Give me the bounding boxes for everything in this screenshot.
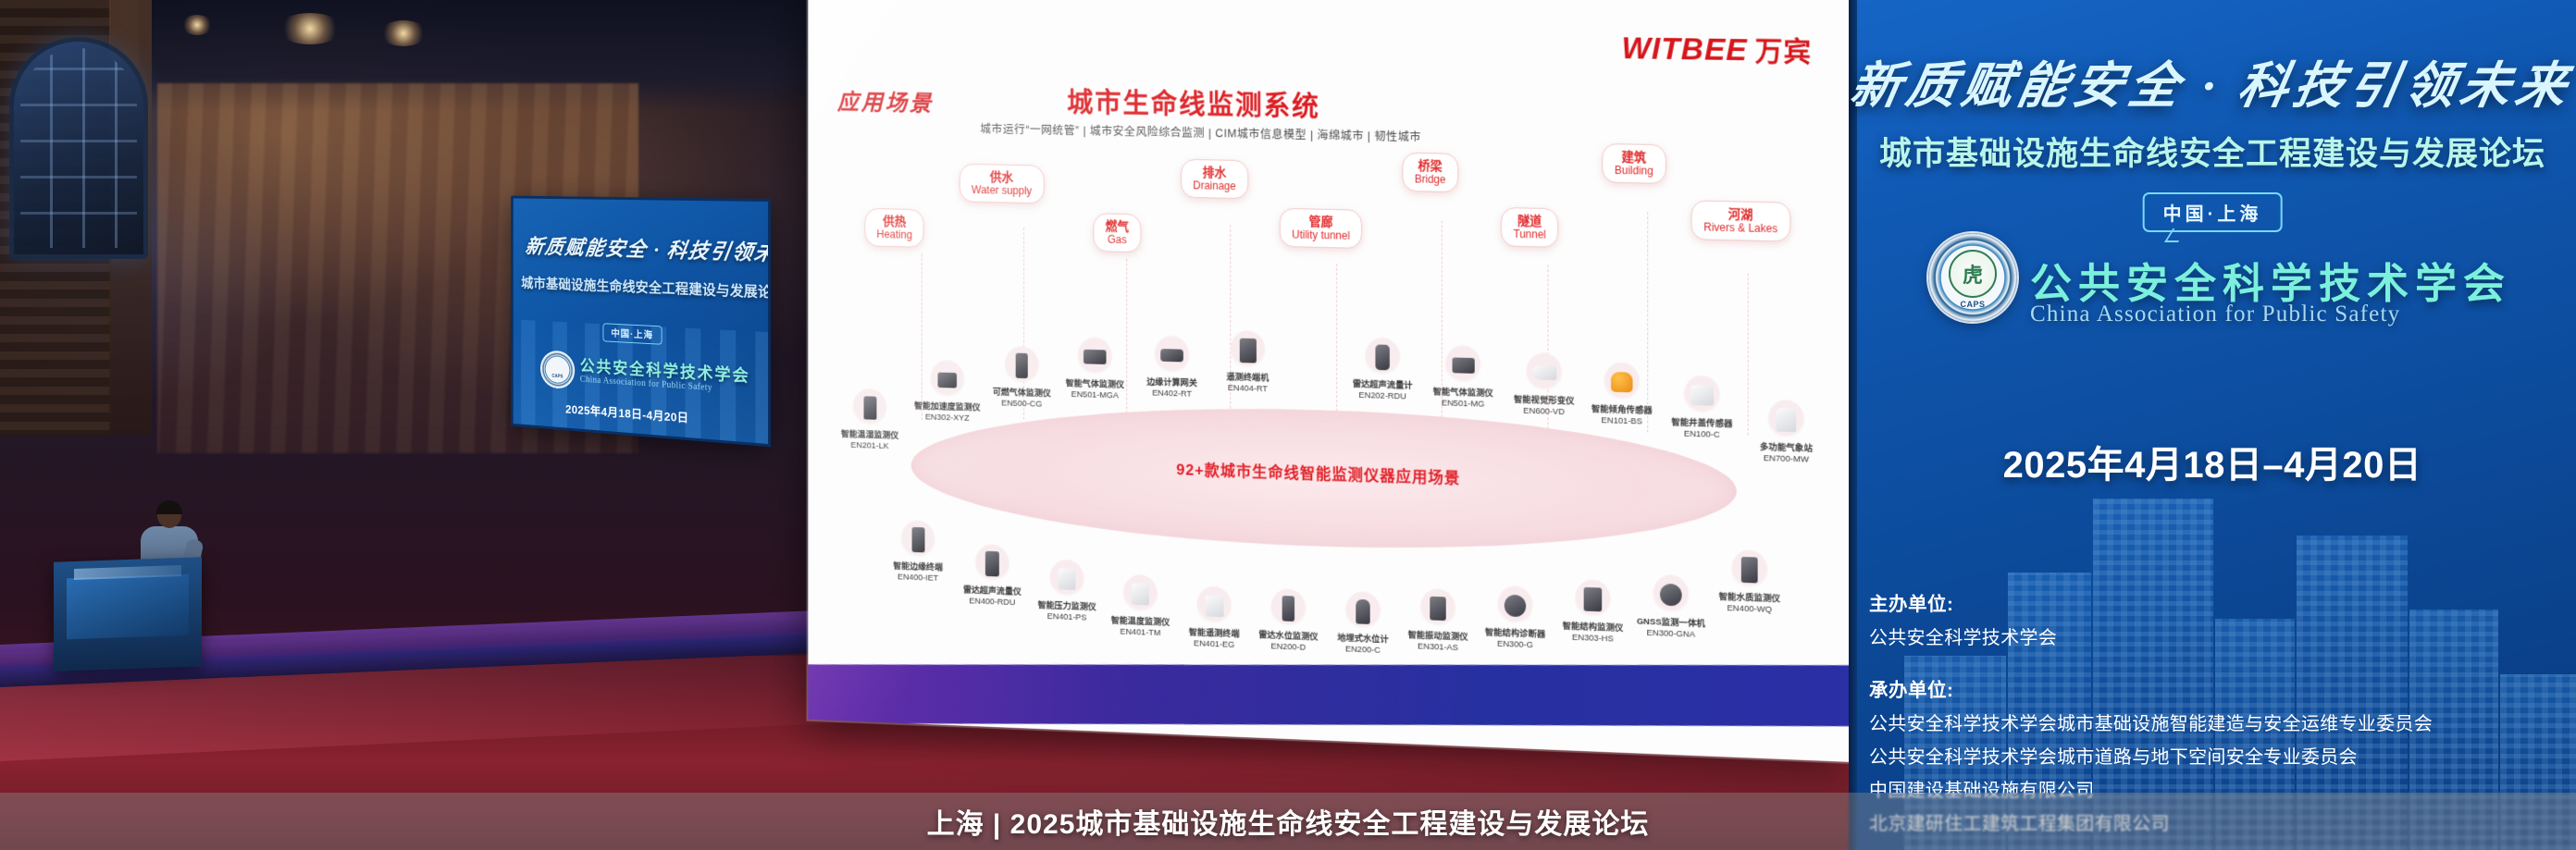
sensor-icon — [930, 360, 964, 400]
co-organizer: 公共安全科学技术学会城市基础设施智能建造与安全运维专业委员会 — [1869, 708, 2433, 735]
caps-seal-icon: CAPS — [1928, 233, 2017, 322]
flowmeter-icon — [1365, 337, 1401, 377]
scene-label-cn: 桥梁 — [1415, 159, 1446, 174]
scene-label-cn: 供热 — [876, 215, 911, 229]
scene-label-en: Water supply — [972, 184, 1032, 198]
telemetry-terminal-icon — [1196, 585, 1232, 626]
edge-terminal-icon — [900, 520, 935, 561]
scene-label-en: Rivers & Lakes — [1703, 221, 1777, 235]
stage-side-led-banner: 新质赋能安全 · 科技引领未来 城市基础设施生命线安全工程建设与发展论坛 中国·… — [514, 198, 768, 444]
vibration-sensor-icon — [1420, 588, 1456, 630]
sensor-icon — [1004, 346, 1039, 387]
scene-bubble-drainage: 排水 Drainage — [1181, 159, 1248, 200]
device-node: 遥测终端机 EN404-RT — [1196, 329, 1299, 395]
led-calligraphy-headline: 新质赋能安全 · 科技引领未来 — [1849, 44, 2576, 117]
scene-bubble-building: 建筑 Building — [1602, 143, 1666, 184]
scene-bubble-tunnel: 隧道 Tunnel — [1501, 207, 1559, 248]
seal-caps-text: CAPS — [1928, 300, 2017, 309]
sensor-icon — [852, 388, 886, 428]
scene-label-en: Heating — [876, 228, 911, 241]
host-label: 主办单位: — [1869, 588, 2433, 616]
water-quality-icon — [1731, 549, 1768, 591]
manhole-sensor-icon — [1684, 375, 1720, 416]
scene-label-cn: 隧道 — [1514, 214, 1546, 228]
gas-sensor-icon — [1445, 344, 1481, 385]
led-location-chip: 中国·上海 — [2143, 192, 2283, 232]
projection-screen: WITBEE万宾 应用场景 城市生命线监测系统 城市运行“一网统管” | 城市安… — [808, 0, 1852, 762]
witbee-logo-text: WITBEE — [1622, 31, 1748, 68]
scene-label-cn: 建筑 — [1615, 150, 1653, 165]
witbee-logo: WITBEE万宾 — [1622, 26, 1813, 69]
gnss-monitor-icon — [1653, 574, 1689, 616]
banner-forum-subtitle: 城市基础设施生命线安全工程建设与发展论坛 — [521, 273, 768, 302]
spotlight — [379, 20, 427, 46]
structure-monitor-icon — [1575, 579, 1611, 621]
scene-bubble-gas: 燃气 Gas — [1093, 213, 1141, 253]
slide-title: 城市生命线监测系统 — [1067, 80, 1320, 124]
terminal-icon — [1230, 330, 1265, 371]
spacer — [1869, 656, 2433, 674]
led-organization-en: China Association for Public Safety — [2030, 302, 2400, 327]
pressure-sensor-icon — [1049, 559, 1084, 599]
center-ellipse-label: 92+款城市生命线智能监测仪器应用场景 — [911, 449, 1737, 497]
witbee-logo-cn: 万宾 — [1755, 36, 1813, 68]
banner-calligraphy-headline: 新质赋能安全 · 科技引领未来 — [524, 229, 763, 265]
scene-label-en: Drainage — [1193, 179, 1235, 192]
scene-bubble-bridge: 桥梁 Bridge — [1402, 153, 1458, 193]
led-event-date: 2025年4月18日–4月20日 — [1849, 435, 2576, 488]
scene-label-cn: 燃气 — [1106, 219, 1130, 234]
podium — [54, 557, 202, 671]
scene-label-en: Utility tunnel — [1292, 228, 1350, 242]
host-organization: 公共安全科学技术学会 — [1869, 622, 2433, 649]
spotlight — [181, 15, 213, 35]
caption-text: 上海 | 2025城市基础设施生命线安全工程建设与发展论坛 — [927, 801, 1650, 842]
sensor-icon — [1077, 337, 1112, 377]
device-model: EN700-MW — [1733, 452, 1839, 466]
flowmeter-icon — [975, 544, 1009, 585]
gateway-icon — [1155, 335, 1190, 376]
buried-level-gauge-icon — [1345, 591, 1381, 633]
co-organizer-label: 承办单位: — [1869, 674, 2433, 702]
tilt-sensor-icon — [1604, 362, 1640, 403]
structure-diagnostic-icon — [1497, 585, 1533, 627]
spotlight — [278, 13, 342, 44]
device-model: EN201-LK — [820, 439, 920, 452]
scene-label-en: Tunnel — [1514, 228, 1546, 240]
scene-bubble-water-supply: 供水 Water supply — [960, 164, 1044, 204]
scene-label-cn: 排水 — [1193, 166, 1235, 180]
scene-label-en: Bridge — [1415, 173, 1446, 186]
vision-sensor-icon — [1526, 352, 1562, 394]
banner-location-chip: 中国·上海 — [602, 323, 662, 344]
device-node: 智能水质监测仪 EN400-WQ — [1696, 548, 1802, 616]
slide-bottom-wave — [808, 664, 1852, 726]
arched-window — [9, 37, 148, 259]
caption-bar: 上海 | 2025城市基础设施生命线安全工程建设与发展论坛 — [0, 793, 2576, 850]
led-forum-subtitle: 城市基础设施生命线安全工程建设与发展论坛 — [1849, 128, 2576, 175]
weather-station-icon — [1768, 399, 1805, 440]
conference-photo-scene: 新质赋能安全 · 科技引领未来 城市基础设施生命线安全工程建设与发展论坛 中国·… — [0, 0, 2576, 850]
speaker-hair — [156, 500, 182, 514]
main-led-backdrop: 新质赋能安全 · 科技引领未来 城市基础设施生命线安全工程建设与发展论坛 中国·… — [1849, 0, 2576, 850]
scene-bubble-rivers-lakes: 河湖 Rivers & Lakes — [1690, 200, 1790, 241]
temperature-sensor-icon — [1122, 573, 1158, 614]
co-organizer: 公共安全科学技术学会城市道路与地下空间安全专业委员会 — [1869, 742, 2433, 769]
scene-label-en: Building — [1615, 165, 1653, 179]
seal-inner-emblem — [1949, 250, 1997, 298]
presentation-slide: WITBEE万宾 应用场景 城市生命线监测系统 城市运行“一网统管” | 城市安… — [808, 0, 1852, 762]
scene-bubble-heating: 供热 Heating — [864, 208, 923, 248]
device-node: 多功能气象站 EN700-MW — [1733, 398, 1839, 465]
radar-level-icon — [1270, 588, 1306, 629]
scene-bubble-utility-tunnel: 管廊 Utility tunnel — [1280, 208, 1363, 249]
slide-section-tag: 应用场景 — [837, 84, 934, 118]
podium-face — [67, 574, 189, 640]
slide-subtitle: 城市运行“一网统管” | 城市安全风险综合监测 | CIM城市信息模型 | 海绵… — [980, 119, 1421, 144]
scene-label-en: Gas — [1106, 233, 1130, 246]
